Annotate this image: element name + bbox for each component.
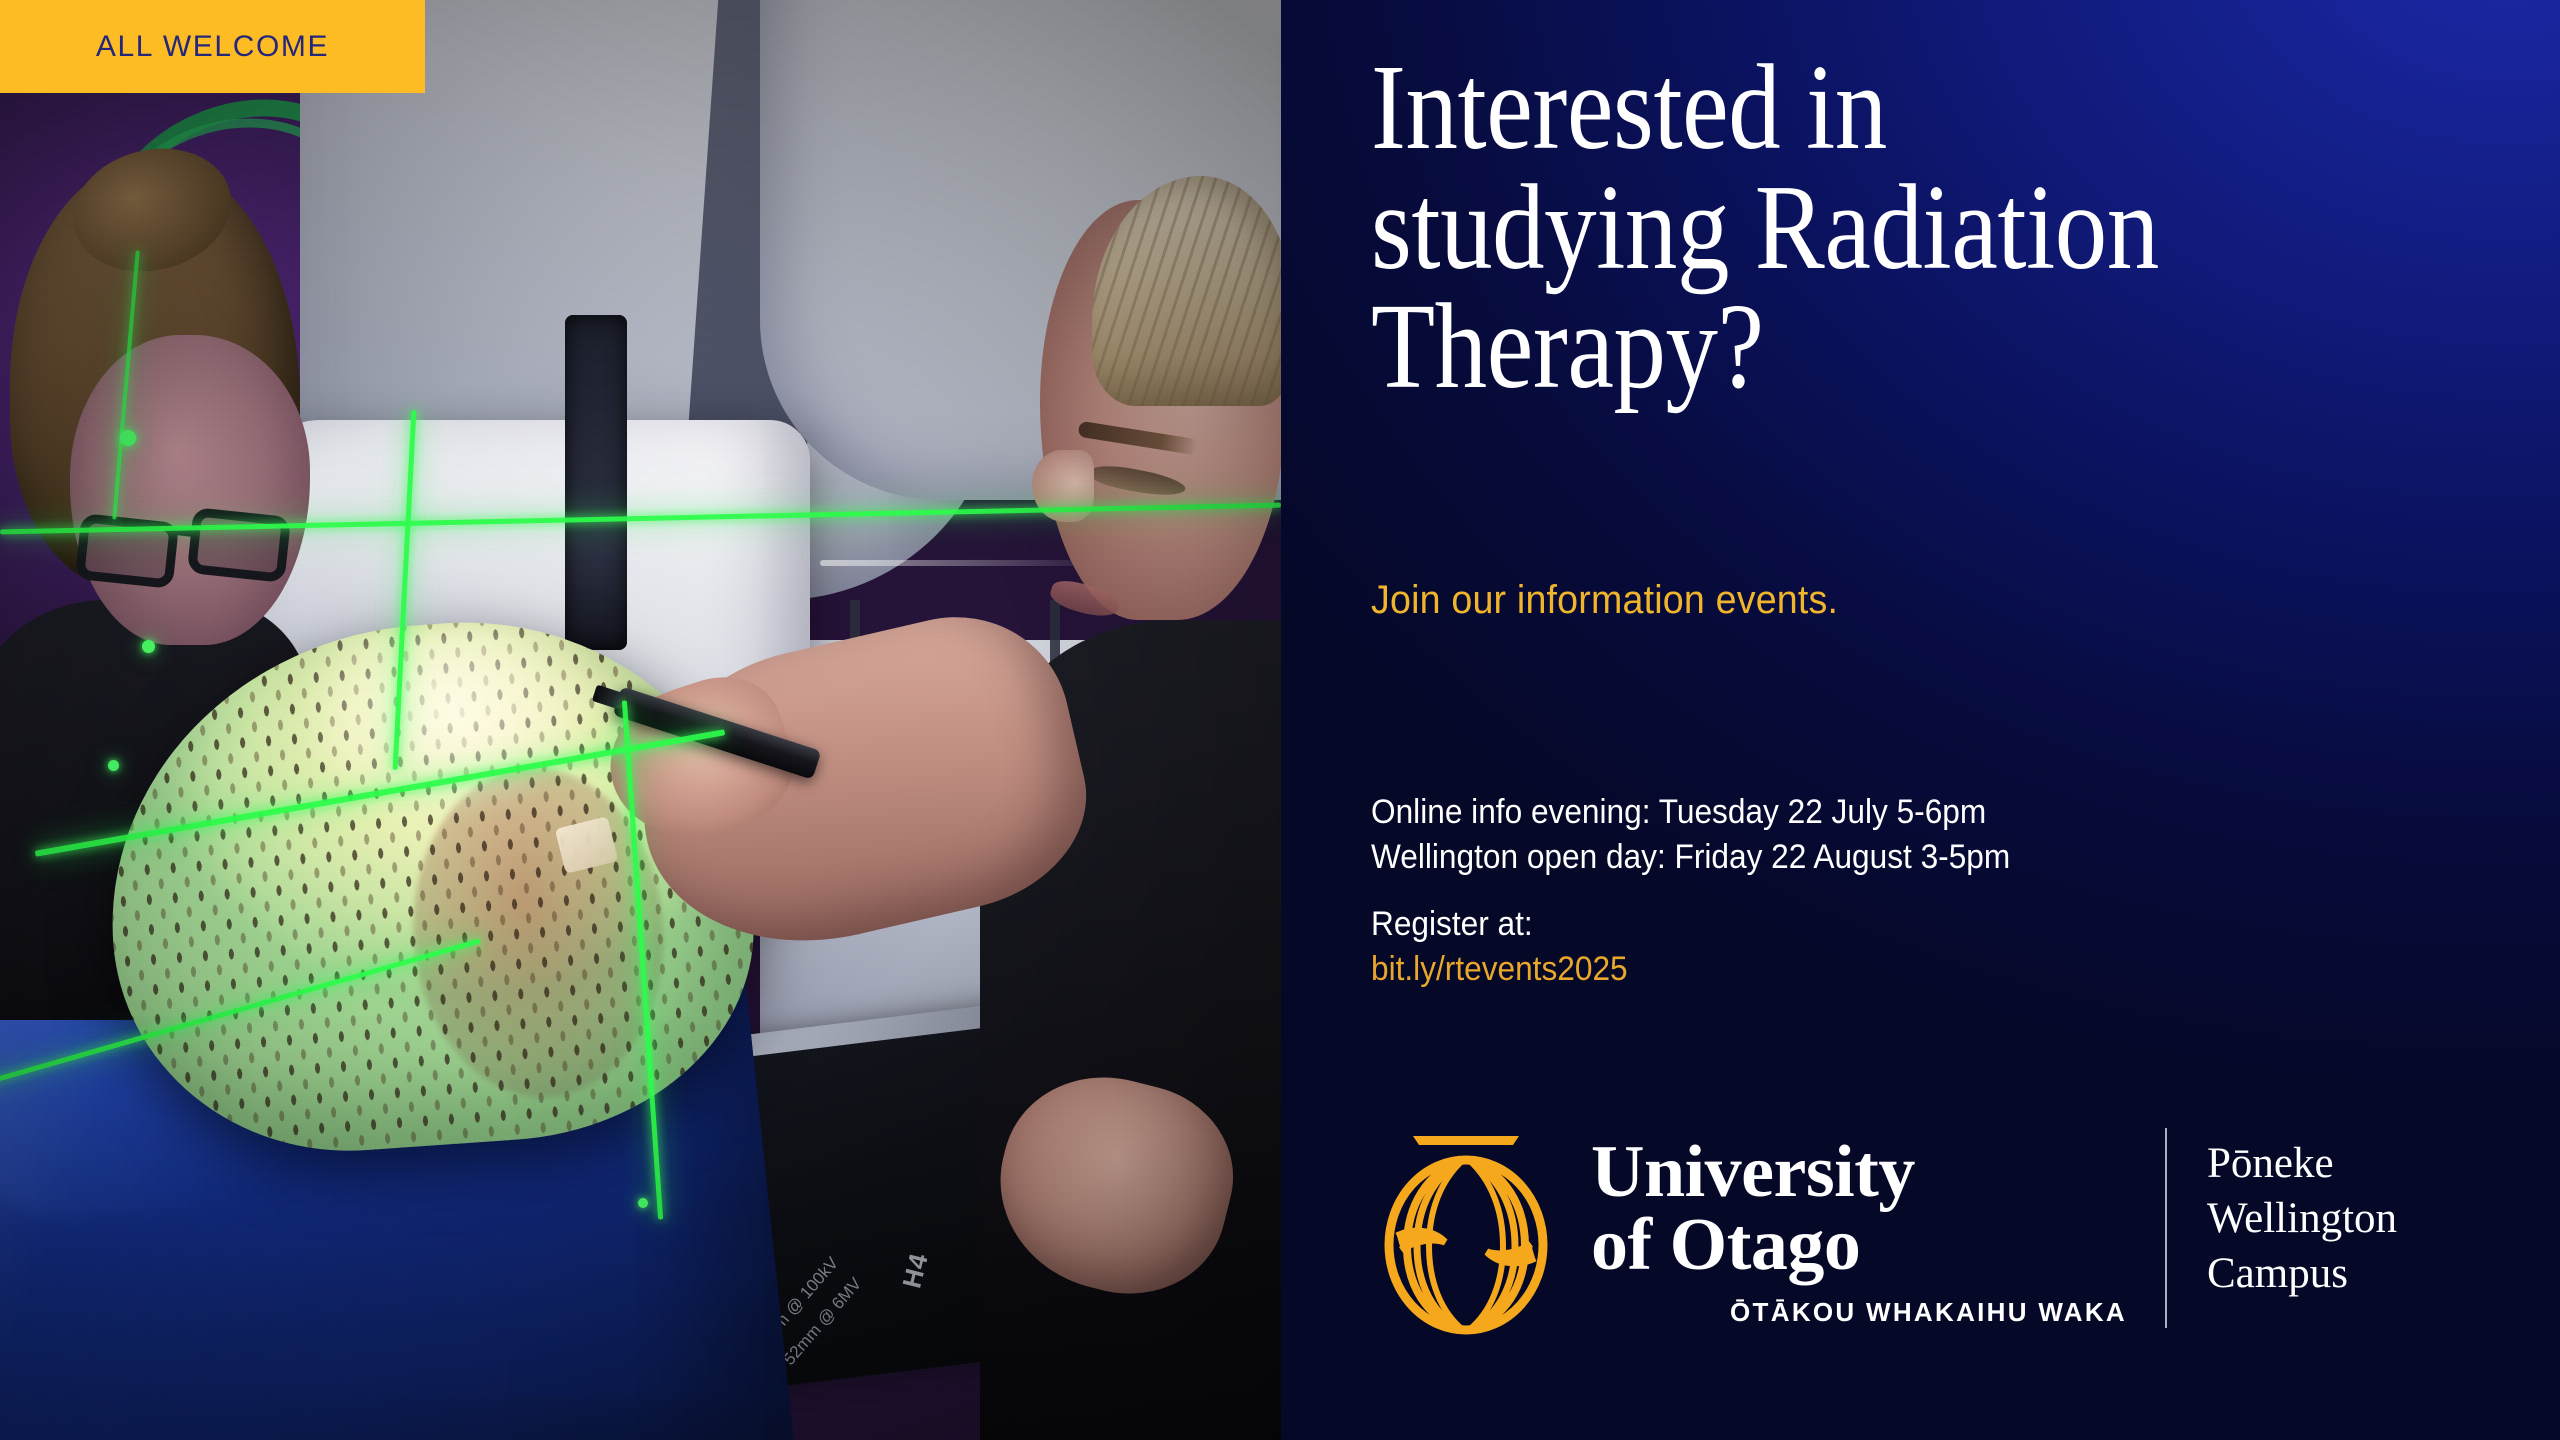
event-detail-online-evening: Online info evening: Tuesday 22 July 5-6… (1371, 790, 2338, 835)
campus-line-1: Pōneke (2207, 1136, 2397, 1191)
laser-scatter-speck (638, 1198, 648, 1208)
university-maori-name: ŌTĀKOU WHAKAIHU WAKA (1591, 1297, 2131, 1328)
student-left-face (70, 335, 310, 645)
university-name: University of Otago (1591, 1136, 2131, 1283)
linac-head-window (565, 315, 627, 650)
otago-crest-icon (1371, 1120, 1561, 1335)
headline-line-3: Therapy? (1371, 287, 2334, 407)
campus-line-3: Campus (2207, 1246, 2397, 1301)
info-panel: Interested in studying Radiation Therapy… (1281, 0, 2560, 1440)
glasses-lens-left (75, 513, 179, 589)
glasses-lens-right (187, 507, 291, 583)
laser-scatter-speck (108, 760, 119, 771)
logo-divider (2165, 1128, 2167, 1328)
thermoplastic-immobilisation-mask (93, 603, 768, 1166)
campus-name-block: Pōneke Wellington Campus (2207, 1120, 2397, 1301)
subheading: Join our information events. (1371, 578, 1838, 623)
page-title: Interested in studying Radiation Therapy… (1371, 48, 2334, 407)
event-details: Online info evening: Tuesday 22 July 5-6… (1371, 790, 2411, 992)
details-spacer (1371, 880, 2411, 902)
promotional-banner: H3 H4 Al = 10mm @ 100kV H₂O = 52mm @ 6MV (0, 0, 2560, 1440)
all-welcome-badge: ALL WELCOME (0, 0, 425, 93)
radiation-therapy-photo: H3 H4 Al = 10mm @ 100kV H₂O = 52mm @ 6MV (0, 0, 1281, 1440)
register-link[interactable]: bit.ly/rtevents2025 (1371, 947, 2338, 992)
all-welcome-badge-label: ALL WELCOME (96, 30, 329, 64)
university-name-line-1: University (1591, 1131, 1915, 1213)
laser-scatter-speck (142, 640, 155, 653)
university-name-block: University of Otago ŌTĀKOU WHAKAIHU WAKA (1591, 1120, 2131, 1328)
university-logo-lockup: University of Otago ŌTĀKOU WHAKAIHU WAKA… (1371, 1120, 2431, 1350)
register-label: Register at: (1371, 902, 2338, 947)
headline-line-2: studying Radiation (1371, 168, 2334, 288)
event-detail-open-day: Wellington open day: Friday 22 August 3-… (1371, 835, 2338, 880)
headline-line-1: Interested in (1371, 48, 2334, 168)
university-name-line-2: of Otago (1591, 1209, 2131, 1282)
laser-scatter-speck (120, 430, 136, 446)
campus-line-2: Wellington (2207, 1191, 2397, 1246)
